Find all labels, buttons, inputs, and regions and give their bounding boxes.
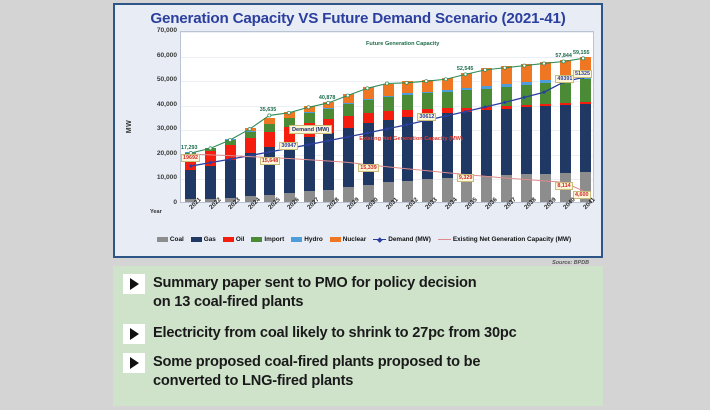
triangle-bullet-icon: [123, 353, 145, 373]
chart-legend: CoalGasOilImportHydroNuclearDemand (MW)E…: [133, 236, 595, 243]
triangle-bullet-icon: [123, 324, 145, 344]
bullet-line-1: Some proposed coal-fired plants proposed…: [153, 354, 480, 370]
x-axis-title: Year: [150, 209, 162, 215]
data-label: 30612: [417, 113, 436, 121]
legend-line: [373, 237, 386, 242]
triangle-bullet-icon: [123, 274, 145, 294]
y-axis-tick: 30,000: [133, 125, 177, 132]
legend-item: Import: [251, 236, 284, 243]
data-label: 49391: [555, 75, 574, 83]
legend-item: Gas: [191, 236, 216, 243]
legend-item: Coal: [157, 236, 184, 243]
chart-title: Generation Capacity VS Future Demand Sce…: [115, 5, 601, 27]
legend-label: Coal: [170, 236, 184, 243]
data-label: 35,635: [260, 107, 277, 113]
legend-swatch: [157, 237, 168, 242]
plot-area-wrapper: MW 010,00020,00030,00040,00050,00060,000…: [123, 31, 597, 236]
legend-item: Nuclear: [330, 236, 366, 243]
line-series-group: [181, 32, 593, 202]
plot-area: 17,29335,63540,87852,54557,84459,1553094…: [180, 31, 594, 203]
annotation-demand: Demand (MW): [289, 125, 332, 134]
data-label: 59,155: [573, 50, 590, 56]
bullet-text: Summary paper sent to PMO for policy dec…: [153, 274, 477, 313]
list-item: Some proposed coal-fired plants proposed…: [113, 344, 603, 392]
y-axis-tick: 60,000: [133, 52, 177, 59]
data-label: 15,648: [260, 157, 281, 165]
bullet-line-1: Summary paper sent to PMO for policy dec…: [153, 275, 477, 291]
bullet-list: Summary paper sent to PMO for policy dec…: [113, 266, 603, 406]
data-label: 17,293: [181, 145, 198, 151]
data-label: 15,339: [358, 164, 379, 172]
y-axis-tick: 0: [133, 199, 177, 206]
y-axis-tick: 10,000: [133, 174, 177, 181]
legend-swatch: [223, 237, 234, 242]
data-label: 52,545: [457, 66, 474, 72]
legend-label: Oil: [236, 236, 245, 243]
data-label: 9,329: [457, 174, 475, 182]
annotation-future-capacity: Future Generation Capacity: [366, 41, 439, 47]
x-axis-ticks: 2021202220232024202520262027202820292030…: [180, 204, 594, 230]
data-label: 57,844: [555, 53, 572, 59]
legend-label: Gas: [204, 236, 216, 243]
bullet-line-1: Electricity from coal likely to shrink t…: [153, 325, 517, 341]
legend-label: Existing Net Generation Capacity (MW): [453, 236, 571, 243]
legend-item: Demand (MW): [373, 236, 431, 243]
chart-panel: Generation Capacity VS Future Demand Sce…: [113, 3, 603, 258]
legend-label: Demand (MW): [388, 236, 431, 243]
legend-swatch: [251, 237, 262, 242]
legend-label: Import: [264, 236, 284, 243]
legend-label: Nuclear: [343, 236, 366, 243]
legend-swatch: [191, 237, 202, 242]
y-axis-tick: 40,000: [133, 101, 177, 108]
data-label: 4,600: [573, 191, 591, 199]
annotation-existing-capacity: Existing Net Generation Capacity (MW): [351, 136, 471, 142]
data-label: 19692: [181, 154, 200, 162]
data-label: 51325: [573, 70, 592, 78]
bullet-text: Some proposed coal-fired plants proposed…: [153, 353, 480, 392]
legend-item: Hydro: [291, 236, 322, 243]
data-label: 30947: [279, 142, 298, 150]
y-axis-tick: 50,000: [133, 76, 177, 83]
y-axis-tick: 70,000: [133, 27, 177, 34]
legend-swatch: [330, 237, 341, 242]
data-label: 8,114: [555, 182, 572, 190]
legend-item: Oil: [223, 236, 245, 243]
bullet-text: Electricity from coal likely to shrink t…: [153, 324, 517, 343]
list-item: Summary paper sent to PMO for policy dec…: [113, 266, 603, 313]
bullet-line-2: converted to LNG-fired plants: [153, 373, 353, 389]
data-label: 40,878: [319, 95, 336, 101]
y-axis-tick: 20,000: [133, 150, 177, 157]
legend-line: [438, 237, 451, 242]
list-item: Electricity from coal likely to shrink t…: [113, 313, 603, 344]
legend-label: Hydro: [304, 236, 322, 243]
infographic-page: Generation Capacity VS Future Demand Sce…: [0, 0, 710, 410]
legend-item: Existing Net Generation Capacity (MW): [438, 236, 571, 243]
bullet-line-2: on 13 coal-fired plants: [153, 294, 303, 310]
legend-swatch: [291, 237, 302, 242]
